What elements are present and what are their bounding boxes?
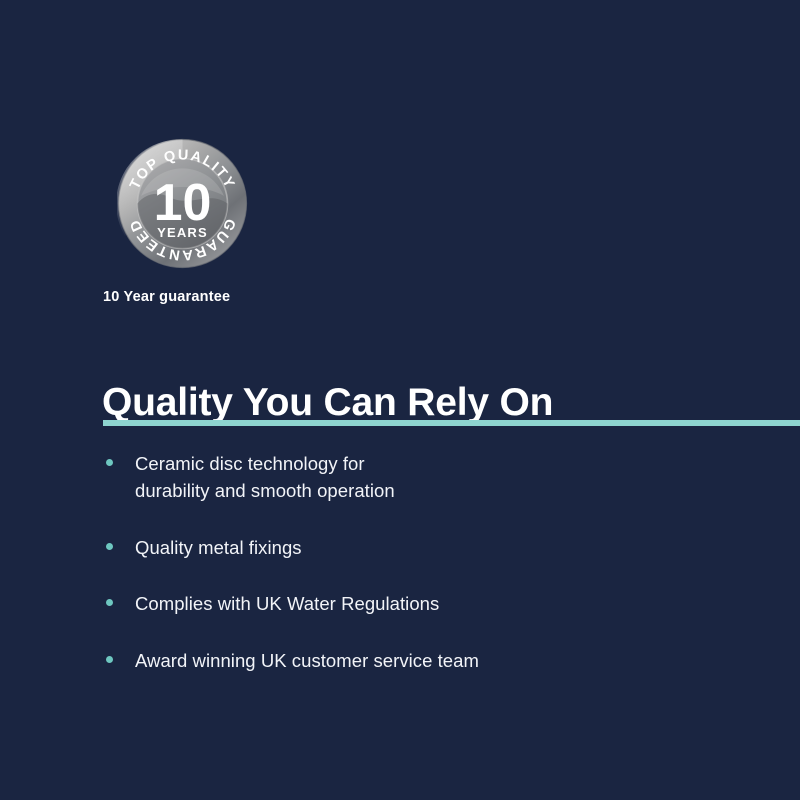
- bullet-dot-icon: [106, 543, 113, 550]
- list-item: Ceramic disc technology for durability a…: [103, 450, 760, 505]
- badge-years-label: YEARS: [157, 225, 208, 240]
- list-item-label: Award winning UK customer service team: [135, 647, 760, 674]
- bullet-dot-icon: [106, 459, 113, 466]
- feature-list: Ceramic disc technology for durability a…: [103, 450, 760, 674]
- bullet-dot-icon: [106, 656, 113, 663]
- list-item-label: Ceramic disc technology for durability a…: [135, 450, 760, 505]
- quality-promo-panel: TOP QUALITY GUARANTEED 10 YEARS 10 Year …: [0, 0, 800, 800]
- accent-divider: [103, 420, 800, 426]
- list-item: Complies with UK Water Regulations: [103, 590, 760, 617]
- list-item-label: Complies with UK Water Regulations: [135, 590, 760, 617]
- list-item: Quality metal fixings: [103, 534, 760, 561]
- guarantee-badge-icon: TOP QUALITY GUARANTEED 10 YEARS: [117, 138, 248, 269]
- page-title: Quality You Can Rely On: [102, 383, 553, 424]
- bullet-dot-icon: [106, 599, 113, 606]
- badge-years-number: 10: [154, 174, 212, 232]
- badge-caption: 10 Year guarantee: [103, 289, 230, 305]
- guarantee-badge: TOP QUALITY GUARANTEED 10 YEARS: [117, 138, 248, 269]
- list-item-label: Quality metal fixings: [135, 534, 760, 561]
- list-item: Award winning UK customer service team: [103, 647, 760, 674]
